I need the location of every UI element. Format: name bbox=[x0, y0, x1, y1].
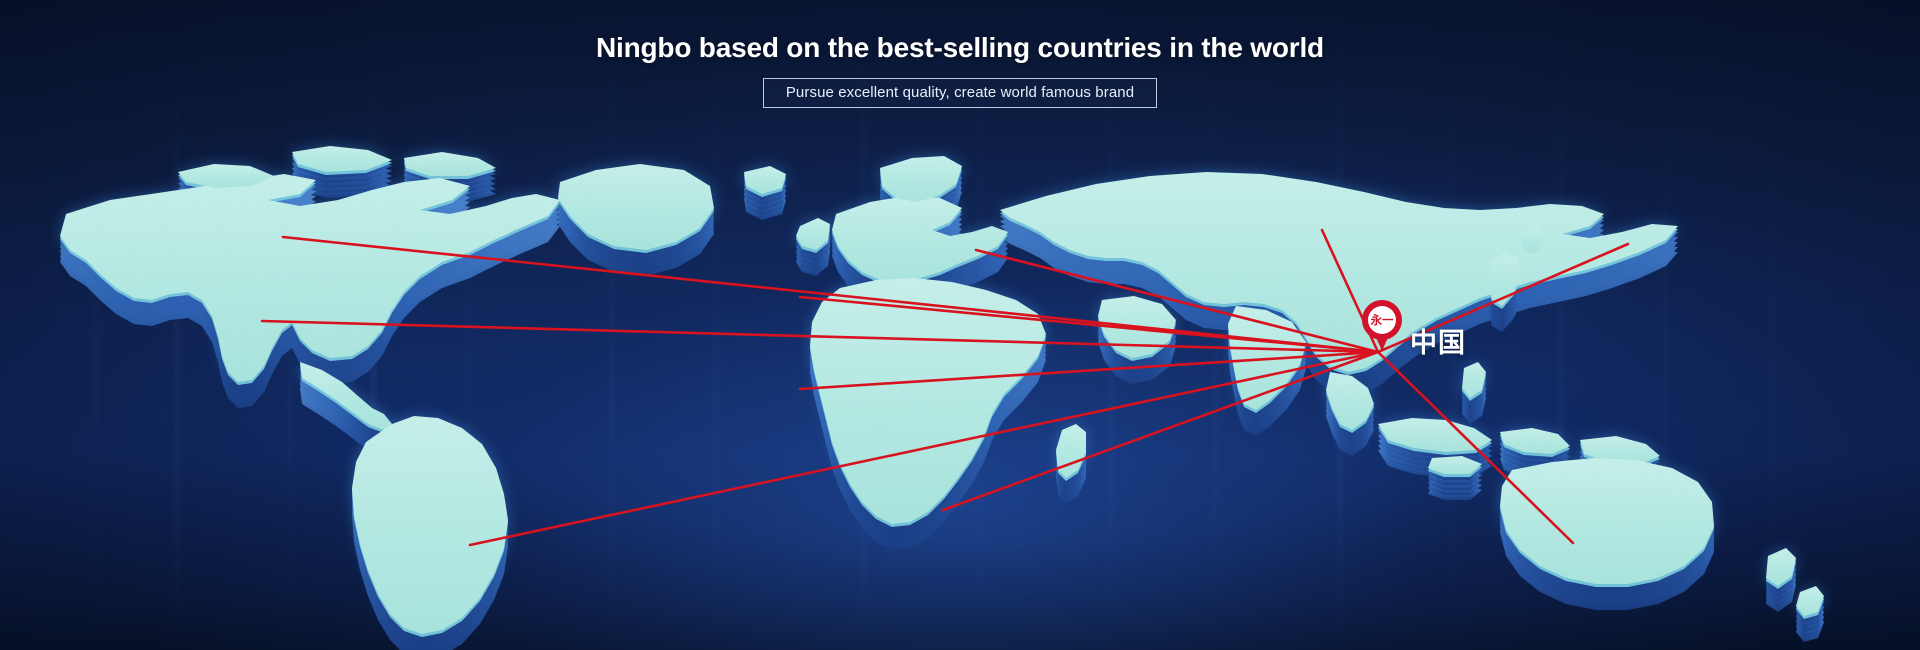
page-subtitle: Pursue excellent quality, create world f… bbox=[763, 78, 1157, 108]
map-pin-icon[interactable]: 永一 bbox=[1362, 300, 1402, 352]
country-label-china: 中国 bbox=[1410, 330, 1466, 357]
pin-brand-text: 永一 bbox=[1371, 314, 1394, 325]
world-map-banner: 永一 中国 Ningbo based on the best-selling c… bbox=[0, 0, 1920, 650]
route-north-america-west bbox=[283, 237, 1378, 352]
route-europe bbox=[976, 250, 1378, 352]
route-oceania bbox=[1378, 352, 1573, 543]
banner-header: Ningbo based on the best-selling countri… bbox=[0, 0, 1920, 108]
page-title: Ningbo based on the best-selling countri… bbox=[0, 0, 1920, 64]
pin-disc: 永一 bbox=[1368, 306, 1396, 334]
